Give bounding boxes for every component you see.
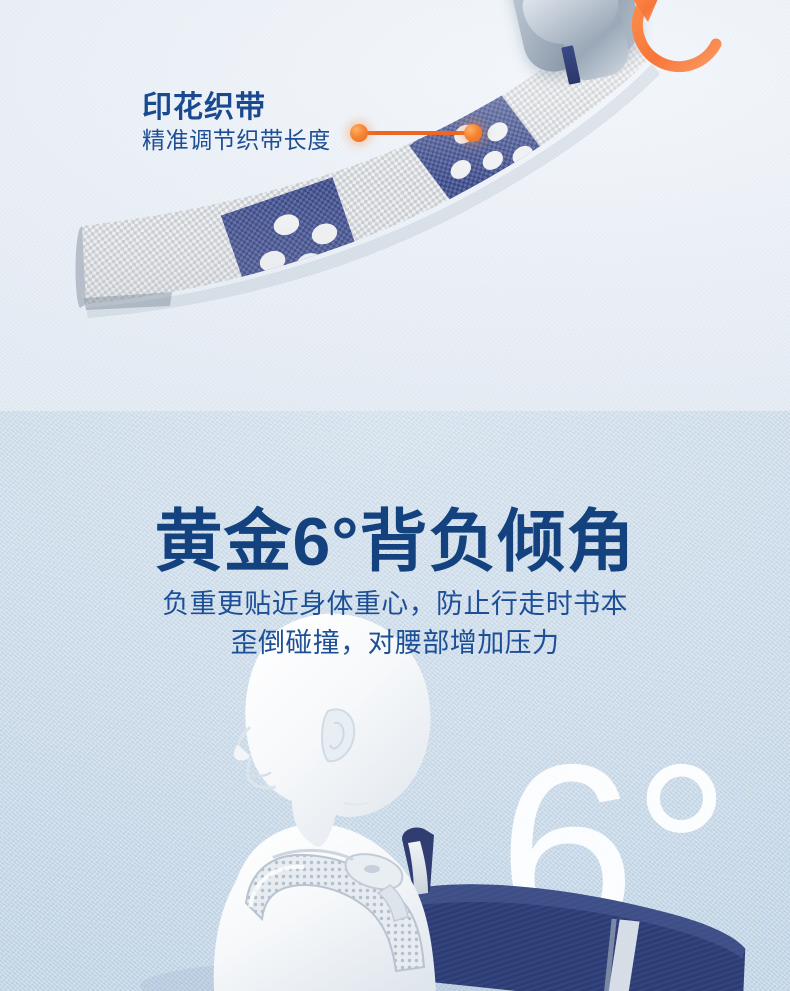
mannequin-lips: [248, 773, 270, 776]
product-detail-page: 印花织带 精准调节织带长度 6°: [0, 0, 790, 991]
backpack: [384, 873, 753, 991]
strap-title: 印花织带: [142, 82, 266, 126]
callout-dot-left: [350, 124, 368, 142]
section-golden-angle: 6°: [0, 411, 790, 991]
mannequin-nose: [234, 745, 250, 760]
strap-subtitle: 精准调节织带长度: [142, 121, 331, 155]
section-printed-webbing: 印花织带 精准调节织带长度: [0, 0, 790, 411]
callout-dot-right: [464, 124, 482, 142]
hardware-slot: [364, 865, 380, 873]
callout-connector: [350, 124, 482, 142]
angle-subtitle-line2: 歪倒碰撞，对腰部增加压力: [0, 624, 790, 663]
angle-subtitle-line1: 负重更贴近身体重心，防止行走时书本: [0, 585, 790, 624]
rotation-arrow-icon: [620, 0, 728, 104]
angle-heading: 黄金6°背负倾角: [0, 486, 790, 585]
callout-line: [356, 131, 478, 135]
angle-subtitle: 负重更贴近身体重心，防止行走时书本 歪倒碰撞，对腰部增加压力: [0, 585, 790, 663]
